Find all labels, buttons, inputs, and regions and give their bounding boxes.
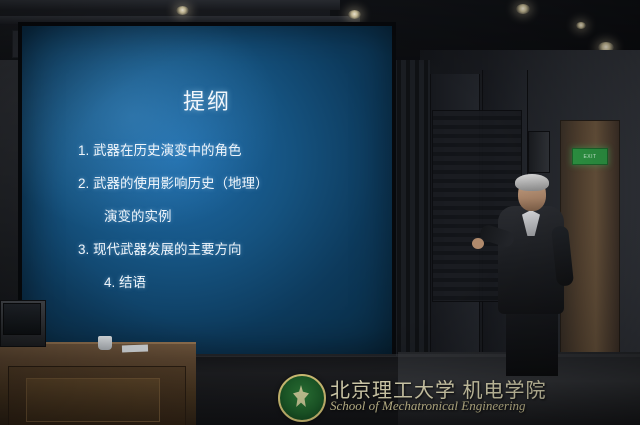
slide-bullet-list: 1. 武器在历史演变中的角色 2. 武器的使用影响历史（地理） 演变的实例 3.… (78, 134, 358, 299)
downlight-icon (576, 22, 586, 29)
slide-title: 提纲 (22, 84, 392, 116)
watermark-english-text: School of Mechatronical Engineering (330, 398, 526, 414)
laptop-screen (3, 303, 41, 335)
watermark-logo: 北京理工大学 机电学院 School of Mechatronical Engi… (278, 372, 634, 422)
speaker-legs (506, 308, 558, 376)
speaker-person (470, 176, 600, 376)
speaker-hand-left (472, 238, 484, 249)
paper-sheet (122, 345, 148, 353)
podium-panel (26, 378, 160, 422)
cup (98, 336, 112, 350)
downlight-icon (516, 4, 530, 14)
slide-bullet: 4. 结语 (78, 266, 358, 299)
university-emblem-icon (278, 374, 326, 422)
slide-bullet: 2. 武器的使用影响历史（地理） (78, 167, 358, 200)
ceiling-slat (0, 0, 340, 10)
slide-bullet: 3. 现代武器发展的主要方向 (78, 233, 358, 266)
slide-bullet: 演变的实例 (78, 200, 358, 233)
speaker-hair (515, 174, 549, 191)
downlight-icon (176, 6, 189, 15)
exit-sign: EXIT (572, 148, 608, 165)
slide-bullet: 1. 武器在历史演变中的角色 (78, 134, 358, 167)
photo-scene: EXIT 提纲 1. 武器在历史演变中的角色 2. 武器的使用影响历史（地理） … (0, 0, 640, 425)
downlight-icon (348, 10, 361, 19)
wall-speaker (528, 131, 550, 173)
projection-screen: 提纲 1. 武器在历史演变中的角色 2. 武器的使用影响历史（地理） 演变的实例… (22, 26, 392, 354)
